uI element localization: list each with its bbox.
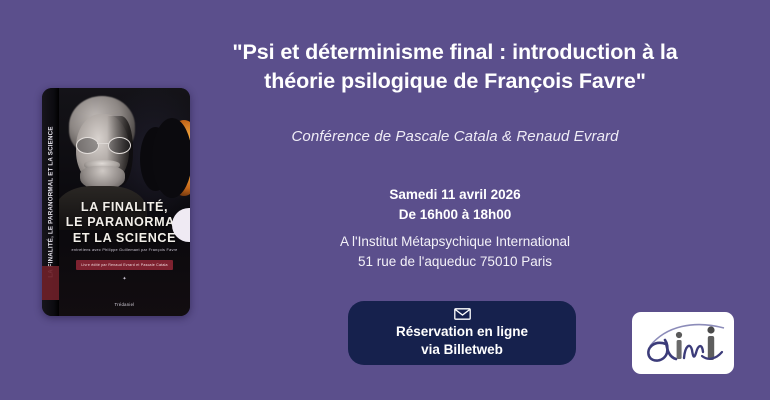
book-spine: LA FINALITÉ, LE PARANORMAL ET LA SCIENCE	[42, 88, 59, 316]
imi-logo[interactable]	[632, 312, 734, 374]
reservation-button-line1: Réservation en ligne	[396, 323, 528, 341]
book-spine-band	[42, 266, 59, 300]
glasses-bridge	[97, 143, 109, 144]
reservation-button-line2: via Billetweb	[421, 341, 503, 359]
book-publisher: Trédaniel	[59, 302, 190, 307]
book-cover-mark: ✦	[122, 276, 126, 282]
glasses-icon	[75, 137, 131, 152]
event-location: A l'Institut Métapsychique International…	[205, 232, 705, 273]
page-title: "Psi et déterminisme final : introductio…	[205, 38, 705, 95]
event-time: De 16h00 à 18h00	[205, 205, 705, 225]
event-datetime: Samedi 11 avril 2026 De 16h00 à 18h00	[205, 185, 705, 225]
conference-speakers: Conférence de Pascale Catala & Renaud Ev…	[205, 128, 705, 145]
book-editor-band-text: Livre édité par Renaud Evrard et Pascale…	[81, 263, 168, 267]
book-title-line2: LE PARANORMAL	[63, 215, 186, 230]
glasses-left-lens	[76, 137, 99, 154]
event-venue: A l'Institut Métapsychique International	[205, 232, 705, 252]
book-front-cover: LA FINALITÉ, LE PARANORMAL ET LA SCIENCE…	[59, 88, 190, 316]
book-cover-image: LA FINALITÉ, LE PARANORMAL ET LA SCIENCE	[42, 88, 190, 316]
book-title: LA FINALITÉ, LE PARANORMAL ET LA SCIENCE	[63, 200, 186, 246]
book-subtitle: entretiens avec Philippe Guillemant par …	[65, 248, 184, 253]
reservation-button[interactable]: Réservation en ligne via Billetweb	[348, 301, 576, 365]
book-title-line1: LA FINALITÉ,	[63, 200, 186, 215]
glasses-right-lens	[108, 137, 131, 154]
event-date: Samedi 11 avril 2026	[205, 185, 705, 205]
event-address: 51 rue de l'aqueduc 75010 Paris	[205, 252, 705, 272]
book-editor-band: Livre édité par Renaud Evrard et Pascale…	[76, 260, 173, 270]
book-spine-text: LA FINALITÉ, LE PARANORMAL ET LA SCIENCE	[47, 126, 54, 277]
book-title-line3: ET LA SCIENCE	[63, 231, 186, 246]
event-poster: LA FINALITÉ, LE PARANORMAL ET LA SCIENCE	[0, 0, 770, 400]
orange-crescent-moon-icon	[165, 120, 190, 196]
envelope-icon	[454, 308, 471, 320]
